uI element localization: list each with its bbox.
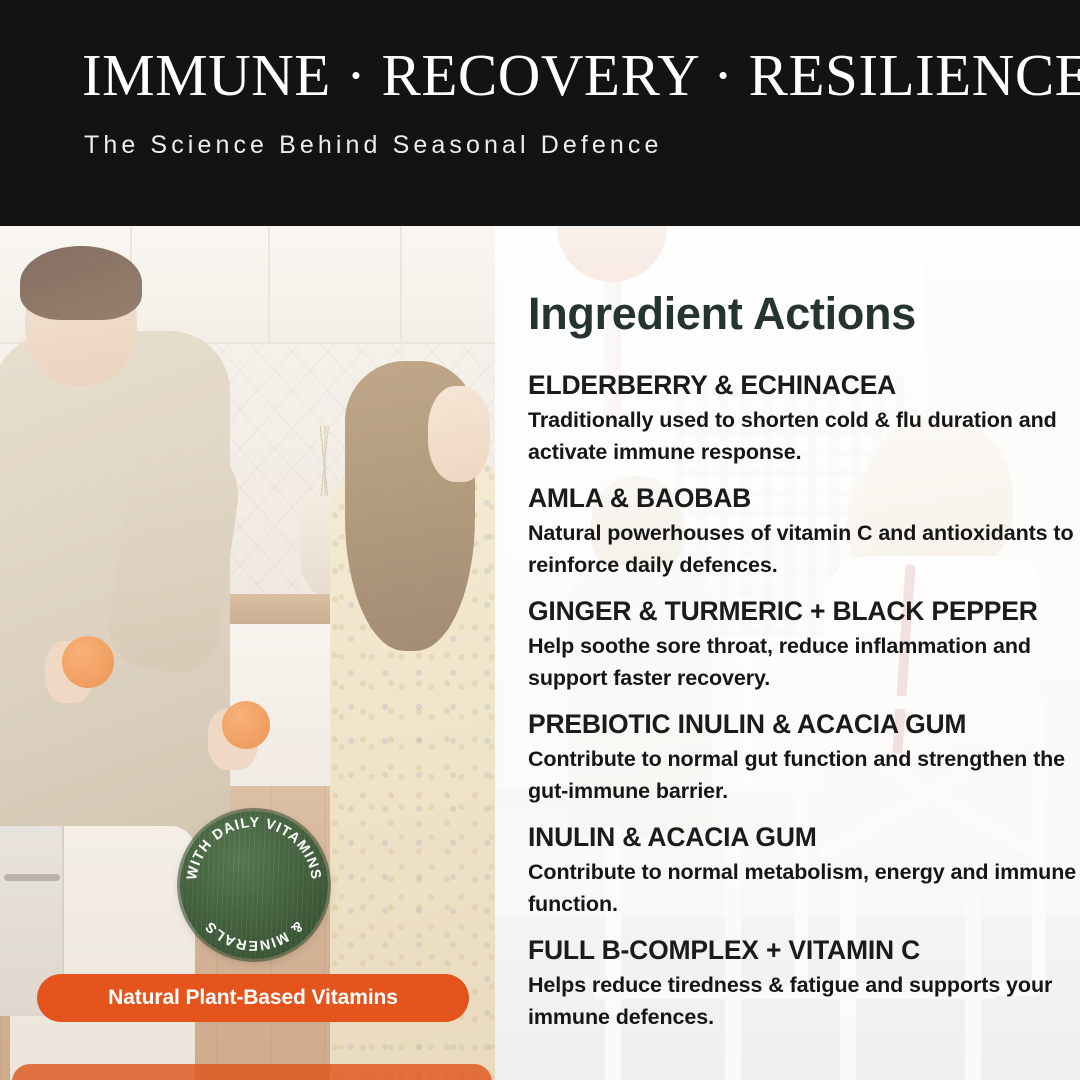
ingredient-item: AMLA & BAOBAB Natural powerhouses of vit… [528, 482, 1080, 581]
page-title: IMMUNE · RECOVERY · RESILIENCE [82, 42, 1080, 108]
page-subtitle: The Science Behind Seasonal Defence [84, 128, 663, 162]
ingredient-item: PREBIOTIC INULIN & ACACIA GUM Contribute… [528, 708, 1080, 807]
pill-label: Natural Plant-Based Vitamins [108, 986, 398, 1010]
body-area: Ingredient Actions ELDERBERRY & ECHINACE… [0, 226, 1080, 1080]
daily-vitamins-badge: WITH DAILY VITAMINS & MINERALS [180, 811, 328, 959]
ingredient-name: INULIN & ACACIA GUM [528, 821, 1080, 854]
ingredient-item: ELDERBERRY & ECHINACEA Traditionally use… [528, 369, 1080, 468]
ingredient-description: Traditionally used to shorten cold & flu… [528, 404, 1080, 468]
ingredient-item: GINGER & TURMERIC + BLACK PEPPER Help so… [528, 595, 1080, 694]
ingredient-name: ELDERBERRY & ECHINACEA [528, 369, 1080, 402]
ingredient-name: PREBIOTIC INULIN & ACACIA GUM [528, 708, 1080, 741]
badge-text-bottom: & MINERALS [202, 918, 306, 953]
ingredient-name: GINGER & TURMERIC + BLACK PEPPER [528, 595, 1080, 628]
ingredient-description: Natural powerhouses of vitamin C and ant… [528, 517, 1080, 581]
ingredient-item: FULL B-COMPLEX + VITAMIN C Helps reduce … [528, 934, 1080, 1033]
ingredient-description: Help soothe sore throat, reduce inflamma… [528, 630, 1080, 694]
natural-plant-based-pill: Natural Plant-Based Vitamins [37, 974, 469, 1022]
ingredient-actions-title: Ingredient Actions [528, 288, 916, 340]
ingredient-name: FULL B-COMPLEX + VITAMIN C [528, 934, 1080, 967]
poster-root: IMMUNE · RECOVERY · RESILIENCE The Scien… [0, 0, 1080, 1080]
ingredient-item: INULIN & ACACIA GUM Contribute to normal… [528, 821, 1080, 920]
header-band: IMMUNE · RECOVERY · RESILIENCE The Scien… [0, 0, 1080, 226]
ingredient-description: Contribute to normal metabolism, energy … [528, 856, 1080, 920]
ingredient-description: Contribute to normal gut function and st… [528, 743, 1080, 807]
ingredient-list: ELDERBERRY & ECHINACEA Traditionally use… [528, 369, 1080, 1047]
ingredient-actions-column: Ingredient Actions ELDERBERRY & ECHINACE… [495, 226, 1080, 1080]
ingredient-description: Helps reduce tiredness & fatigue and sup… [528, 969, 1080, 1033]
badge-text-top: WITH DAILY VITAMINS [184, 815, 324, 881]
ingredient-name: AMLA & BAOBAB [528, 482, 1080, 515]
also-includes-panel: ALSO INCLUDES: Xanthan Gum • Magnesium •… [12, 1064, 492, 1080]
